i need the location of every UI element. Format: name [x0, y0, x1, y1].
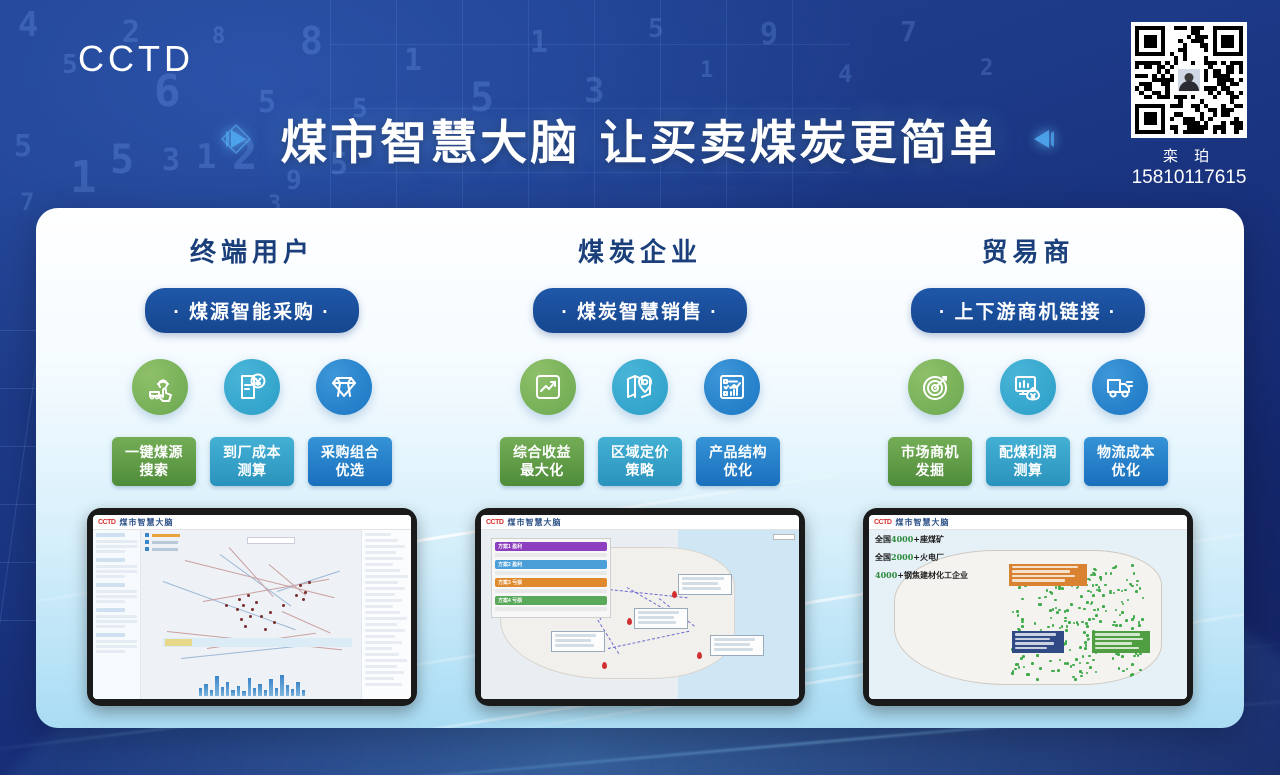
- qr-code-icon[interactable]: [1131, 22, 1247, 138]
- app-header: CCTD 煤市智慧大脑: [869, 515, 1187, 530]
- bar-chart: [199, 650, 305, 696]
- diamond-icon[interactable]: [316, 359, 372, 415]
- icons-row: [132, 359, 372, 415]
- scheme-list[interactable]: 方案1 盈利 方案2 盈利 方案3 亏损 方案4 亏损: [491, 538, 611, 618]
- play-triangle-icon: [218, 121, 254, 157]
- target-dart-icon[interactable]: [908, 359, 964, 415]
- info-box-orange: [1009, 564, 1087, 586]
- stat-line: 全国4000+座煤矿: [875, 534, 1013, 545]
- feature-tag[interactable]: 一键煤源搜索: [112, 437, 196, 486]
- screen: CCTD 煤市智慧大脑 方案1 盈利 方案2 盈利 方案3 亏损 方案4 亏损: [481, 515, 799, 699]
- columns-container: 终端用户· 煤源智能采购 ·一键煤源搜索到厂成本测算采购组合优选 CCTD 煤市…: [36, 208, 1244, 728]
- chart-money-bag-icon[interactable]: [1000, 359, 1056, 415]
- page-title: 煤市智慧大脑 让买卖煤炭更简单: [280, 104, 999, 173]
- map-area[interactable]: 方案1 盈利 方案2 盈利 方案3 亏损 方案4 亏损: [481, 530, 799, 699]
- app-body: 全国4000+座煤矿全国2000+火电厂4000+钢焦建材化工企业: [869, 530, 1187, 699]
- stat-line: 4000+钢焦建材化工企业: [875, 570, 1013, 581]
- tablet-screenshot: CCTD 煤市智慧大脑 全国4000+座煤矿全国2000+火电厂4000+钢焦建…: [863, 508, 1193, 706]
- report-chart-icon[interactable]: [704, 359, 760, 415]
- screen: CCTD 煤市智慧大脑 全国4000+座煤矿全国2000+火电厂4000+钢焦建…: [869, 515, 1187, 699]
- touch-coal-icon[interactable]: [132, 359, 188, 415]
- tags-row: 一键煤源搜索到厂成本测算采购组合优选: [112, 437, 392, 486]
- tablet-screenshot: CCTD 煤市智慧大脑 方案1 盈利 方案2 盈利 方案3 亏损 方案4 亏损: [475, 508, 805, 706]
- scheme-card[interactable]: 方案2 盈利: [495, 560, 607, 575]
- tags-row: 市场商机发掘配煤利润测算物流成本优化: [888, 437, 1168, 486]
- avatar: [1176, 67, 1202, 93]
- screen: CCTD 煤市智慧大脑: [93, 515, 411, 699]
- route-info-tooltip: [678, 574, 732, 595]
- app-header: CCTD 煤市智慧大脑: [93, 515, 411, 530]
- feature-tag[interactable]: 综合收益最大化: [500, 437, 584, 486]
- feature-tag[interactable]: 产品结构优化: [696, 437, 780, 486]
- column-pill[interactable]: · 煤源智能采购 ·: [145, 288, 358, 333]
- route-info-tooltip: [551, 631, 605, 652]
- contact-block: 栾 珀 15810117615: [1126, 22, 1252, 189]
- stats-overlay: 全国4000+座煤矿全国2000+火电厂4000+钢焦建材化工企业: [875, 534, 1013, 588]
- icons-row: [908, 359, 1148, 415]
- feature-tag[interactable]: 到厂成本测算: [210, 437, 294, 486]
- contact-phone: 15810117615: [1126, 167, 1252, 189]
- cctd-logo: CCTD: [78, 38, 194, 80]
- app-title: 煤市智慧大脑: [507, 517, 561, 528]
- app-title: 煤市智慧大脑: [119, 517, 173, 528]
- scheme-card[interactable]: 方案1 盈利: [495, 542, 607, 557]
- qr-code-canvas: [1135, 26, 1243, 134]
- filter-sidebar[interactable]: [93, 530, 141, 699]
- app-logo: CCTD: [874, 519, 891, 526]
- column-pill[interactable]: · 上下游商机链接 ·: [911, 288, 1145, 333]
- scheme-card[interactable]: 方案3 亏损: [495, 578, 607, 593]
- feature-tag[interactable]: 区域定价策略: [598, 437, 682, 486]
- stat-line: 全国2000+火电厂: [875, 552, 1013, 563]
- tablet-screenshot: CCTD 煤市智慧大脑: [87, 508, 417, 706]
- info-box-navy: [1012, 631, 1064, 653]
- play-triangle-left-icon: [1026, 121, 1062, 157]
- contact-name: 栾 珀: [1126, 145, 1252, 166]
- data-panel[interactable]: [361, 530, 411, 699]
- column-2: 煤炭企业· 煤炭智慧销售 ·综合收益最大化区域定价策略产品结构优化 CCTD 煤…: [446, 228, 834, 728]
- app-logo: CCTD: [98, 519, 115, 526]
- map-area[interactable]: [141, 530, 361, 699]
- map-pin-marker[interactable]: [697, 652, 702, 659]
- delivery-truck-icon[interactable]: [1092, 359, 1148, 415]
- column-1: 终端用户· 煤源智能采购 ·一键煤源搜索到厂成本测算采购组合优选 CCTD 煤市…: [58, 228, 446, 728]
- map-pin-icon[interactable]: [612, 359, 668, 415]
- scheme-card[interactable]: 方案4 亏损: [495, 596, 607, 611]
- feature-tag[interactable]: 采购组合优选: [308, 437, 392, 486]
- app-header: CCTD 煤市智慧大脑: [481, 515, 799, 530]
- trend-up-icon[interactable]: [520, 359, 576, 415]
- info-box-green: [1092, 631, 1150, 653]
- column-title: 终端用户: [190, 232, 314, 269]
- column-pill[interactable]: · 煤炭智慧销售 ·: [533, 288, 746, 333]
- feature-tag[interactable]: 市场商机发掘: [888, 437, 972, 486]
- feature-tag[interactable]: 物流成本优化: [1084, 437, 1168, 486]
- feature-tag[interactable]: 配煤利润测算: [986, 437, 1070, 486]
- map-pin-marker[interactable]: [627, 618, 632, 625]
- tags-row: 综合收益最大化区域定价策略产品结构优化: [500, 437, 780, 486]
- column-3: 贸易商· 上下游商机链接 ·市场商机发掘配煤利润测算物流成本优化 CCTD 煤市…: [834, 228, 1222, 728]
- column-title: 贸易商: [981, 232, 1074, 269]
- map-pin-marker[interactable]: [602, 662, 607, 669]
- title-row: 煤市智慧大脑 让买卖煤炭更简单: [0, 104, 1280, 173]
- app-title: 煤市智慧大脑: [895, 517, 949, 528]
- map-pin-marker[interactable]: [672, 591, 677, 598]
- content-card: 终端用户· 煤源智能采购 ·一键煤源搜索到厂成本测算采购组合优选 CCTD 煤市…: [36, 208, 1244, 728]
- app-body: [93, 530, 411, 699]
- invoice-yuan-icon[interactable]: [224, 359, 280, 415]
- app-body: 方案1 盈利 方案2 盈利 方案3 亏损 方案4 亏损: [481, 530, 799, 699]
- map-area[interactable]: 全国4000+座煤矿全国2000+火电厂4000+钢焦建材化工企业: [869, 530, 1187, 699]
- route-info-tooltip: [634, 608, 688, 629]
- app-logo: CCTD: [486, 519, 503, 526]
- route-info-tooltip: [710, 635, 764, 656]
- icons-row: [520, 359, 760, 415]
- column-title: 煤炭企业: [578, 232, 702, 269]
- map-legend: [145, 533, 180, 554]
